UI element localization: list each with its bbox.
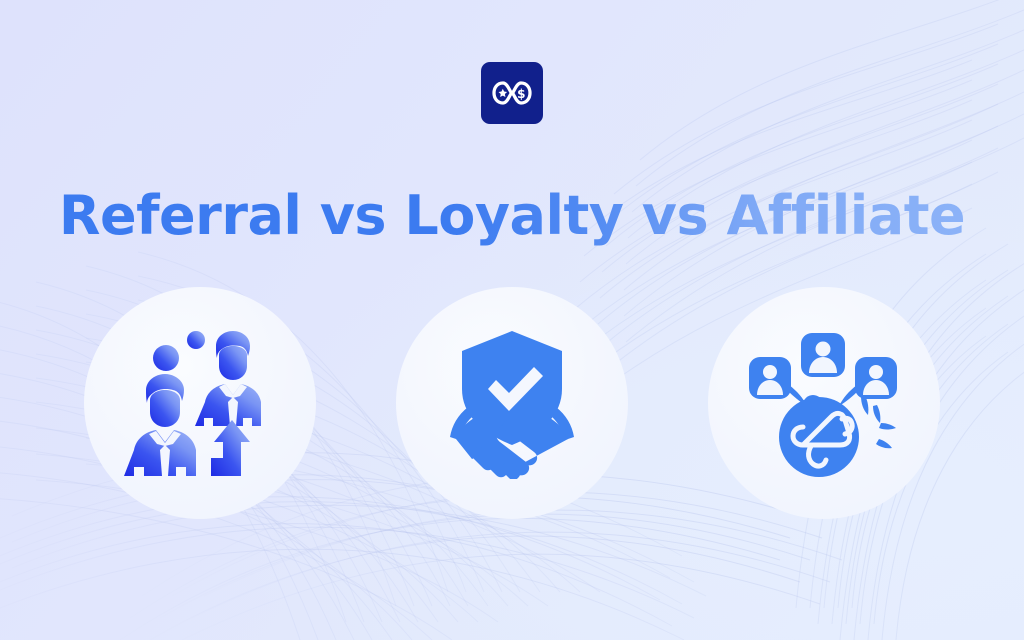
person-back (195, 331, 261, 430)
icon-row (0, 287, 1024, 519)
affiliate-icon-circle (708, 287, 940, 519)
referral-two-businessmen-icon (120, 328, 280, 478)
page-title: Referral vs Loyalty vs Affiliate (0, 186, 1024, 246)
chat-dot-small (187, 331, 205, 349)
promo-banner: $ Referral vs Loyalty vs Affiliate (0, 0, 1024, 640)
loyalty-shield-handshake-icon (436, 327, 588, 479)
chat-dot-large (153, 345, 179, 371)
growth-arrow-icon (211, 420, 250, 476)
avatar-badge-center (801, 333, 845, 377)
person-front (124, 374, 196, 478)
brand-logo: $ (481, 62, 543, 124)
avatar-badge-left (749, 357, 791, 399)
logo-tile: $ (481, 62, 543, 124)
dollar-glyph: $ (517, 87, 525, 101)
avatar-badge-right (855, 357, 897, 399)
star-glyph (499, 89, 508, 97)
loyalty-icon-circle (396, 287, 628, 519)
infinity-icon: $ (491, 80, 533, 106)
referral-icon-circle (84, 287, 316, 519)
affiliate-megaphone-network-icon (745, 327, 903, 479)
